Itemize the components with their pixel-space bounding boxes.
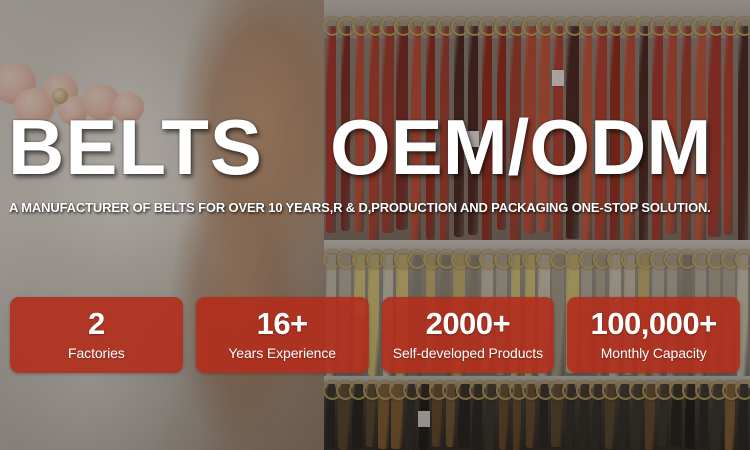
background-photo-belt-wall [324,0,750,450]
stat-value: 100,000+ [591,307,717,341]
price-tag [418,411,430,427]
stat-box: 100,000+Monthly Capacity [567,297,740,373]
stat-label: Years Experience [228,343,336,363]
stat-value: 2000+ [426,307,511,341]
stat-label: Factories [68,343,125,363]
stat-box: 2Factories [10,297,183,373]
belt-buckle [735,17,750,36]
headline-row: BELTS OEM/ODM [0,104,750,190]
stat-label: Self-developed Products [393,343,543,363]
headline-secondary: OEM/ODM [330,104,711,190]
belt-buckle [735,250,750,269]
stat-label: Monthly Capacity [601,343,707,363]
price-tag [552,70,564,86]
stat-value: 16+ [257,307,308,341]
belt-row-dark [324,376,750,450]
banner-subtitle: A MANUFACTURER OF BELTS FOR OVER 10 YEAR… [9,200,734,215]
stats-row: 2Factories16+Years Experience2000+Self-d… [10,297,740,373]
belt-buckle [735,381,750,400]
stat-box: 2000+Self-developed Products [382,297,555,373]
stat-box: 16+Years Experience [196,297,369,373]
background-photo-dress [0,0,324,450]
brooch-decor [52,88,68,104]
stat-value: 2 [88,307,105,341]
headline-primary: BELTS [8,104,263,190]
promo-banner: BELTS OEM/ODM A MANUFACTURER OF BELTS FO… [0,0,750,450]
